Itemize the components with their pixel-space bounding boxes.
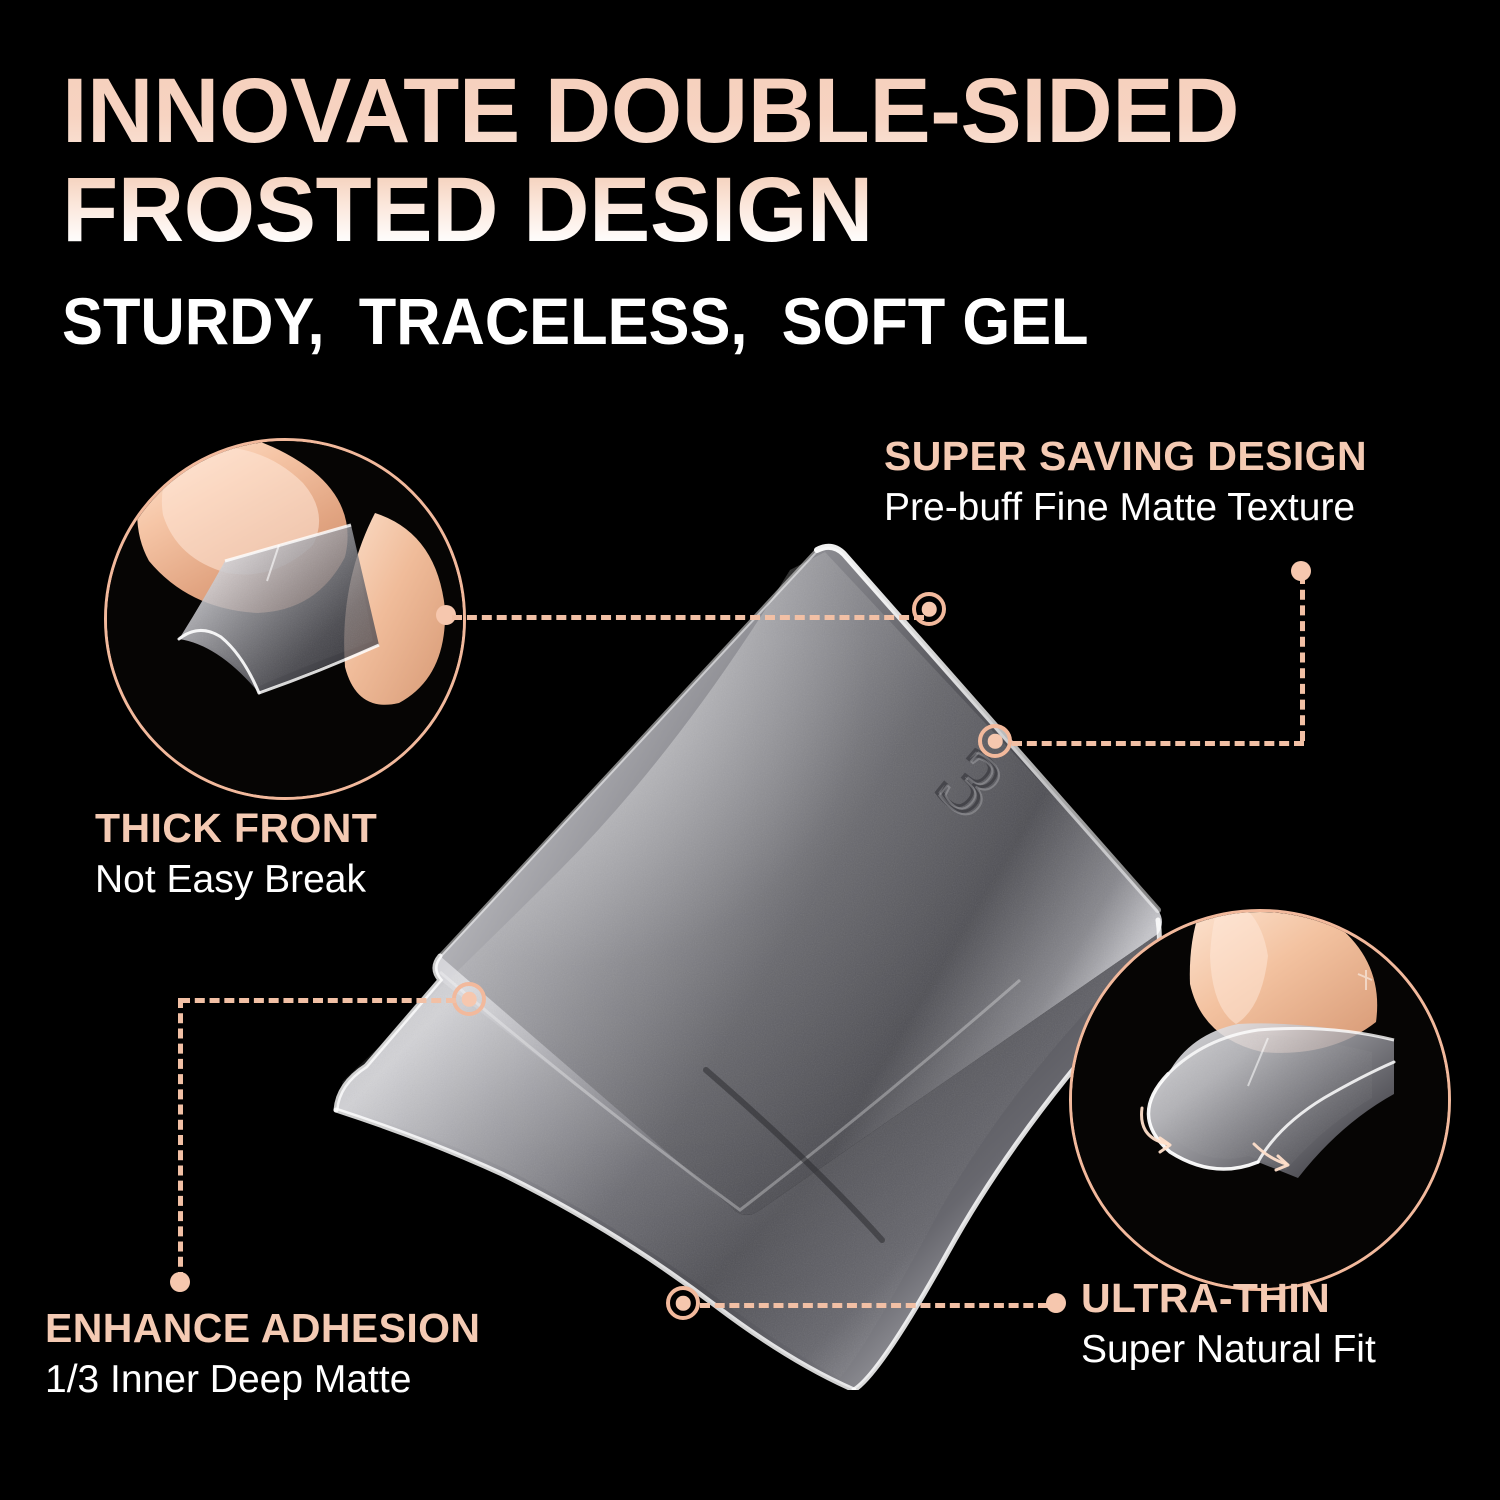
inset-ultra-thin <box>1069 909 1451 1291</box>
marker-ring-dot-icon <box>452 982 486 1016</box>
callout-ultra-thin: ULTRA-THIN Super Natural Fit <box>1081 1278 1376 1371</box>
callout-subtitle: Super Natural Fit <box>1081 1330 1376 1371</box>
marker-ring-dot-icon <box>912 592 946 626</box>
inset-ultra-thin-image <box>1072 912 1451 1291</box>
headline-block: INNOVATE DOUBLE-SIDED FROSTED DESIGN STU… <box>62 66 1462 354</box>
headline-line-1: INNOVATE DOUBLE-SIDED <box>62 66 1462 157</box>
callout-title: ULTRA-THIN <box>1081 1278 1376 1320</box>
callout-super-saving-design: SUPER SAVING DESIGN Pre-buff Fine Matte … <box>884 436 1367 529</box>
dashed-connector-icon <box>700 1303 1048 1308</box>
inset-thick-front <box>104 438 466 800</box>
dashed-connector-icon <box>1300 574 1305 741</box>
callout-subtitle: Not Easy Break <box>95 860 377 901</box>
callout-title: ENHANCE ADHESION <box>45 1308 480 1350</box>
callout-subtitle: Pre-buff Fine Matte Texture <box>884 488 1367 529</box>
marker-dot-icon <box>1046 1293 1066 1313</box>
dashed-connector-icon <box>1012 741 1304 746</box>
infographic-canvas: INNOVATE DOUBLE-SIDED FROSTED DESIGN STU… <box>0 0 1500 1500</box>
callout-subtitle: 1/3 Inner Deep Matte <box>45 1360 480 1401</box>
callout-title: SUPER SAVING DESIGN <box>884 436 1367 478</box>
marker-dot-icon <box>1291 561 1311 581</box>
callout-thick-front: THICK FRONT Not Easy Break <box>95 808 377 901</box>
dashed-connector-icon <box>180 998 456 1003</box>
inset-thick-front-image <box>107 441 466 800</box>
callout-enhance-adhesion: ENHANCE ADHESION 1/3 Inner Deep Matte <box>45 1308 480 1401</box>
marker-dot-icon <box>170 1272 190 1292</box>
dashed-connector-icon <box>452 615 924 620</box>
callout-title: THICK FRONT <box>95 808 377 850</box>
dashed-connector-icon <box>178 998 183 1282</box>
headline-subhead: STURDY, TRACELESS, SOFT GEL <box>62 288 1364 354</box>
marker-ring-dot-icon <box>978 724 1012 758</box>
headline-line-2: FROSTED DESIGN <box>62 165 1462 256</box>
marker-ring-dot-icon <box>666 1286 700 1320</box>
